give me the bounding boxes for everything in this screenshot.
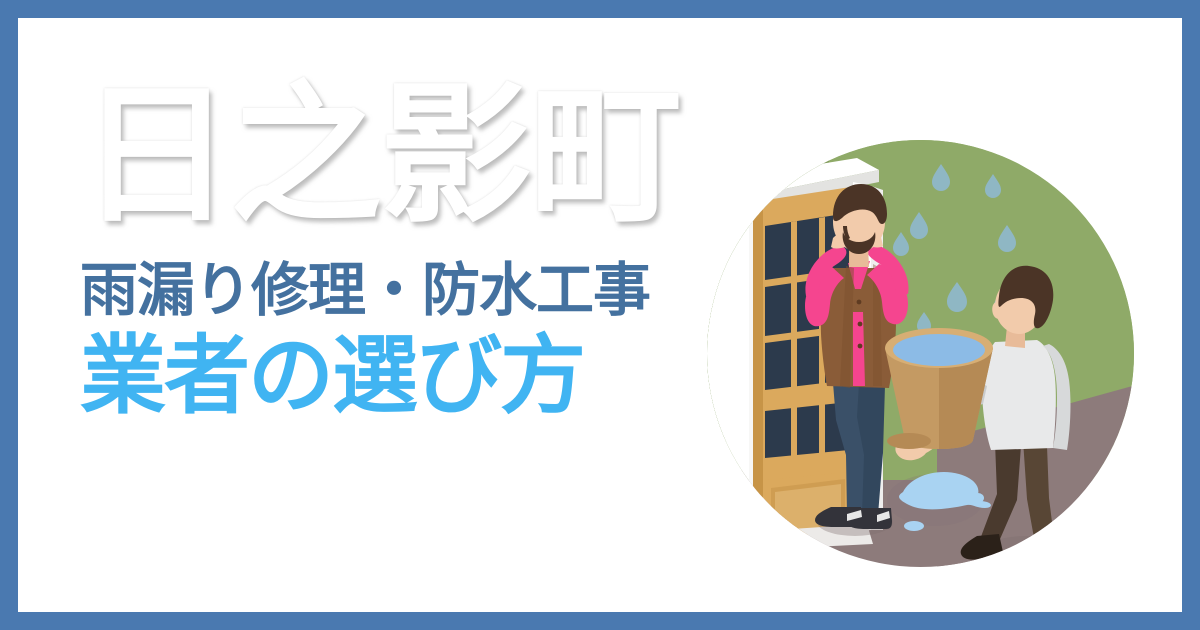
- illustration-circle-contents: [707, 140, 1134, 567]
- vest-button: [858, 322, 863, 327]
- illustration-roof-leak: [707, 140, 1134, 567]
- poster-inner-panel: 日之影町 雨漏り修理・防水工事 業者の選び方: [18, 18, 1182, 612]
- bucket-water: [893, 334, 985, 366]
- door-leaf-edge: [753, 202, 763, 538]
- bucket-base: [887, 433, 931, 449]
- bucket-carrier-shoe-front: [1029, 530, 1070, 559]
- vest-button: [858, 344, 863, 349]
- poster-canvas: 日之影町 雨漏り修理・防水工事 業者の選び方: [0, 0, 1200, 630]
- puddle-droplet-tiny: [972, 493, 984, 503]
- puddle-droplet-small: [904, 521, 924, 531]
- vest-button: [857, 300, 862, 305]
- door-muntin-v1: [791, 221, 797, 465]
